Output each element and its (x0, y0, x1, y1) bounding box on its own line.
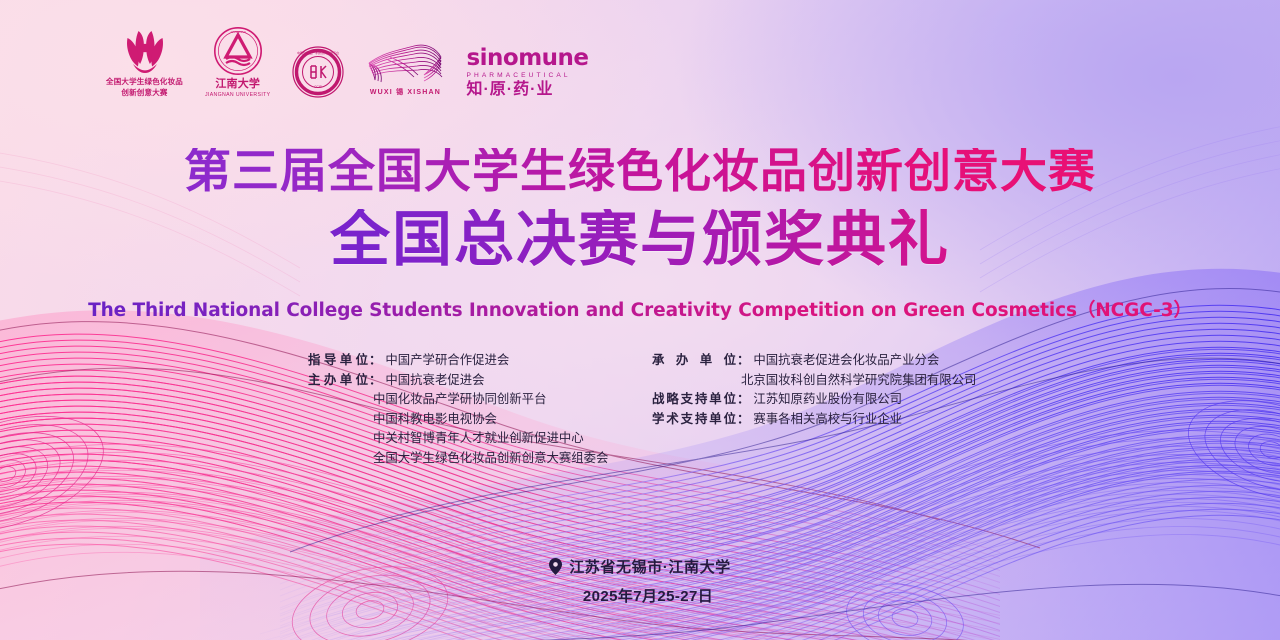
organizer-row: 主办单位：中国抗衰老促进会 (308, 371, 608, 391)
logo-sinomune: sinomune PHARMACEUTICAL 知·原·药·业 (466, 47, 588, 98)
organizer-row: 中关村智博青年人才就业创新促进中心 (308, 429, 608, 449)
title-line-2: 全国总决赛与颁奖典礼 (0, 209, 1280, 272)
logo2-label-cn: 江南大学 (215, 77, 260, 91)
location-pin-icon (549, 558, 562, 575)
organizer-value: 江苏知原药业股份有限公司 (753, 390, 902, 410)
venue-date-text: 2025年7月25-27日 (0, 585, 1280, 606)
circular-seal-icon: 中国化妆品产学研协同创新平台 CCIP (292, 46, 344, 98)
sinomune-chinese-name: 知·原·药·业 (466, 82, 553, 98)
organizer-value: 中国化妆品产学研协同创新平台 (373, 390, 546, 410)
logo4-label: WUXI 锡 XISHAN (370, 89, 441, 98)
venue-location-row: 江苏省无锡市·江南大学 (549, 556, 731, 577)
organizer-label: 学术支持单位 (652, 410, 736, 430)
svg-text:JIANGNAN: JIANGNAN (230, 30, 246, 34)
organizer-value: 赛事各相关高校与行业企业 (753, 410, 902, 430)
jiangnan-university-icon: JIANGNAN (213, 26, 263, 76)
organizer-row: 北京国妆科创自然科学研究院集团有限公司 (652, 371, 976, 391)
organizer-value: 中国抗衰老促进会 (385, 371, 484, 391)
english-subtitle: The Third National College Students Inno… (0, 296, 1280, 322)
wuxi-xishan-icon (366, 43, 444, 89)
title-line-1: 第三届全国大学生绿色化妆品创新创意大赛 (0, 148, 1280, 195)
organizer-label: 承办单位 (652, 351, 736, 371)
venue-block: 江苏省无锡市·江南大学 2025年7月25-27日 (0, 556, 1280, 606)
sinomune-wordmark: sinomune (466, 47, 588, 70)
organizer-label: 战略支持单位 (652, 390, 736, 410)
organizer-colon: ： (368, 371, 385, 391)
organizer-value: 北京国妆科创自然科学研究院集团有限公司 (741, 371, 976, 391)
organizers-right-column: 承办单位：中国抗衰老促进会化妆品产业分会北京国妆科创自然科学研究院集团有限公司战… (652, 351, 976, 429)
organizer-label: 指导单位 (308, 351, 368, 371)
logo2-label-en: JIANGNAN UNIVERSITY (205, 92, 270, 98)
logo1-label-line2: 创新创意大赛 (121, 88, 167, 97)
svg-text:CCIP: CCIP (315, 85, 323, 89)
organizer-row: 全国大学生绿色化妆品创新创意大赛组委会 (308, 449, 608, 469)
organizer-colon: ： (736, 390, 753, 410)
organizer-value: 中国科教电影电视协会 (373, 410, 497, 430)
organizer-colon: ： (736, 410, 753, 430)
organizer-value: 中关村智博青年人才就业创新促进中心 (373, 429, 584, 449)
organizer-value: 中国产学研合作促进会 (385, 351, 509, 371)
organizer-row: 中国化妆品产学研协同创新平台 (308, 390, 608, 410)
venue-location-text: 江苏省无锡市·江南大学 (569, 556, 731, 577)
competition-emblem-icon (118, 27, 172, 75)
poster-canvas: 全国大学生绿色化妆品 创新创意大赛 JIANGNAN 江南大学 JIANGNAN… (0, 0, 1280, 640)
organizer-row: 战略支持单位：江苏知原药业股份有限公司 (652, 390, 976, 410)
logo1-label-line1: 全国大学生绿色化妆品 (106, 77, 183, 86)
organizer-row: 中国科教电影电视协会 (308, 410, 608, 430)
organizer-value: 全国大学生绿色化妆品创新创意大赛组委会 (373, 449, 608, 469)
organizer-colon: ： (736, 351, 753, 371)
organizer-value: 中国抗衰老促进会化妆品产业分会 (753, 351, 939, 371)
organizer-row: 指导单位：中国产学研合作促进会 (308, 351, 608, 371)
logo-wuxi-xishan: WUXI 锡 XISHAN (366, 43, 444, 98)
logo-jiangnan-university: JIANGNAN 江南大学 JIANGNAN UNIVERSITY (205, 26, 270, 98)
organizer-row: 承办单位：中国抗衰老促进会化妆品产业分会 (652, 351, 976, 371)
organizer-label: 主办单位 (308, 371, 368, 391)
svg-text:中国化妆品产学研协同创新平台: 中国化妆品产学研协同创新平台 (297, 50, 339, 55)
sinomune-subtitle: PHARMACEUTICAL (466, 72, 570, 79)
logo-competition-emblem: 全国大学生绿色化妆品 创新创意大赛 (106, 27, 183, 98)
organizers-left-column: 指导单位：中国产学研合作促进会主办单位：中国抗衰老促进会中国化妆品产学研协同创新… (308, 351, 608, 468)
logo-circular-seal: 中国化妆品产学研协同创新平台 CCIP (292, 46, 344, 98)
organizer-colon: ： (368, 351, 385, 371)
organizer-row: 学术支持单位：赛事各相关高校与行业企业 (652, 410, 976, 430)
sponsor-logo-row: 全国大学生绿色化妆品 创新创意大赛 JIANGNAN 江南大学 JIANGNAN… (106, 26, 589, 98)
